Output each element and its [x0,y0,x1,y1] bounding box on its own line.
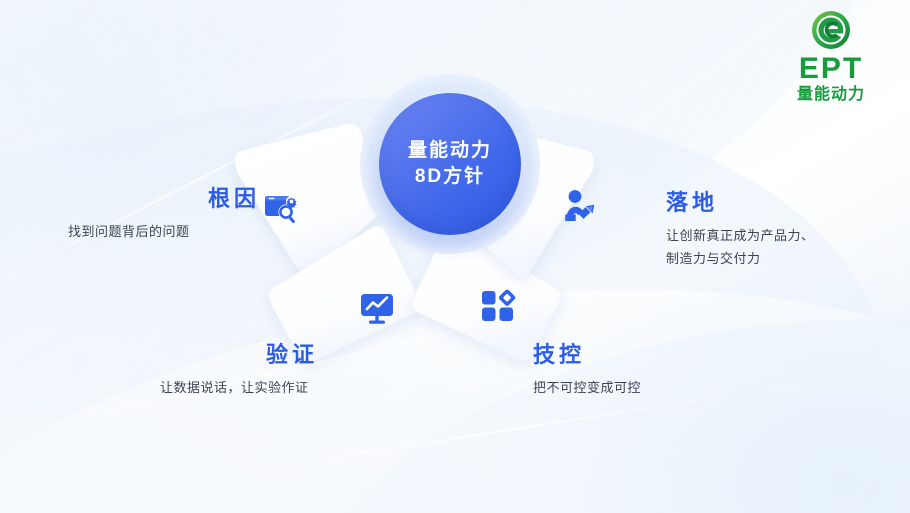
label-desc-verify: 让数据说话，让实验作证 [160,377,380,400]
label-landing: 落地 让创新真正成为产品力、 制造力与交付力 [666,190,896,271]
label-desc-tech-control: 把不可控变成可控 [533,377,763,400]
label-desc-line: 找到问题背后的问题 [68,221,268,244]
hub-circle[interactable]: 量能动力 8D方针 [379,93,521,235]
window-search-gear-icon[interactable] [262,189,302,234]
label-desc-line: 让数据说话，让实验作证 [160,377,380,400]
label-desc-landing: 让创新真正成为产品力、 制造力与交付力 [666,225,896,271]
label-title-landing: 落地 [666,190,896,216]
label-title-tech-control: 技控 [533,342,763,368]
center-hub[interactable]: 量能动力 8D方针 [360,74,540,254]
logo-wordmark-cn: 量能动力 [772,87,890,103]
label-tech-control: 技控 把不可控变成可控 [533,342,763,400]
label-desc-line: 让创新真正成为产品力、 [666,225,896,248]
label-title-verify: 验证 [160,342,380,368]
label-verify: 验证 让数据说话，让实验作证 [160,342,380,400]
label-desc-line: 制造力与交付力 [666,248,896,271]
hub-title-line2: 8D方针 [415,164,485,190]
label-title-root-cause: 根因 [68,186,268,212]
e-circle-icon [809,8,853,52]
hub-title-line1: 量能动力 [408,138,492,164]
label-desc-root-cause: 找到问题背后的问题 [68,221,268,244]
logo-wordmark: EPT [772,54,890,84]
person-document-icon[interactable] [560,187,602,232]
monitor-chart-icon[interactable] [357,288,397,333]
brand-logo: EPT 量能动力 [772,8,890,103]
grid-blocks-icon[interactable] [478,286,518,331]
label-desc-line: 把不可控变成可控 [533,377,763,400]
label-root-cause: 根因 找到问题背后的问题 [68,186,268,244]
slide-canvas: EPT 量能动力 [0,0,910,513]
